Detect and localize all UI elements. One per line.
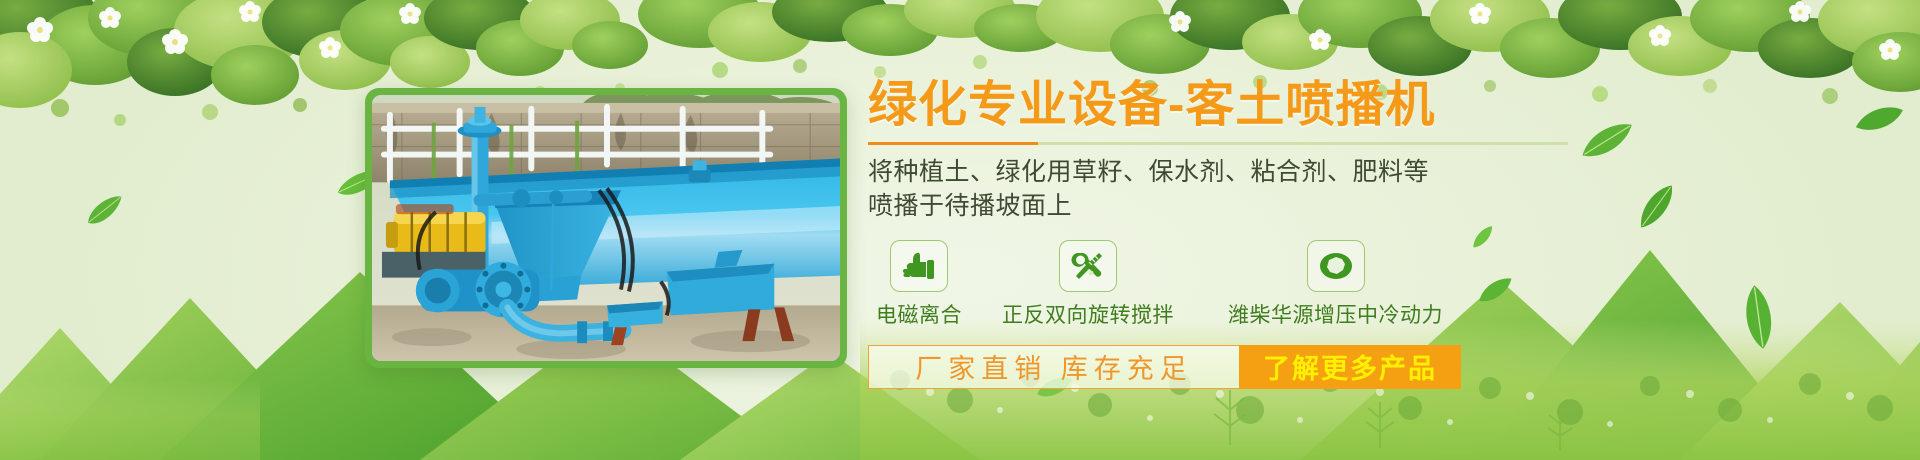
learn-more-button[interactable]: 了解更多产品 bbox=[1239, 345, 1461, 389]
promo-banner: 绿化专业设备-客土喷播机 将种植土、绿化用草籽、保水剂、粘合剂、肥料等 喷播于待… bbox=[0, 0, 1920, 460]
title-divider bbox=[868, 142, 1568, 145]
feature-list: 电磁离合 正反双向旋转搅拌 bbox=[868, 240, 1568, 329]
banner-content: 绿化专业设备-客土喷播机 将种植土、绿化用草籽、保水剂、粘合剂、肥料等 喷播于待… bbox=[868, 78, 1568, 389]
feature-label: 正反双向旋转搅拌 bbox=[1002, 299, 1174, 329]
leaf-icon bbox=[1844, 95, 1910, 143]
gear-ring-icon bbox=[1307, 240, 1365, 292]
thumbs-up-icon bbox=[890, 240, 948, 292]
feature-label: 潍柴华源增压中冷动力 bbox=[1228, 299, 1443, 329]
feature-item-weichai-power: 潍柴华源增压中冷动力 bbox=[1228, 240, 1443, 329]
wrench-screwdriver-icon bbox=[1059, 240, 1117, 292]
leaf-icon bbox=[1568, 109, 1643, 173]
subtitle-text: 将种植土、绿化用草籽、保水剂、粘合剂、肥料等 喷播于待播坡面上 bbox=[868, 155, 1568, 224]
leaf-icon bbox=[1625, 175, 1685, 242]
feature-item-electromagnetic-clutch: 电磁离合 bbox=[876, 240, 962, 329]
leaf-icon bbox=[80, 190, 133, 236]
cta-slogan: 厂家直销 库存充足 bbox=[868, 345, 1239, 389]
feature-item-bidirectional-mixing: 正反双向旋转搅拌 bbox=[1002, 240, 1174, 329]
cta-bar: 厂家直销 库存充足 了解更多产品 bbox=[868, 345, 1461, 389]
feature-label: 电磁离合 bbox=[876, 299, 962, 329]
product-photo-frame bbox=[365, 88, 847, 368]
leaf-icon bbox=[1735, 280, 1783, 360]
page-title: 绿化专业设备-客土喷播机 bbox=[868, 78, 1568, 133]
product-photo bbox=[372, 95, 840, 361]
